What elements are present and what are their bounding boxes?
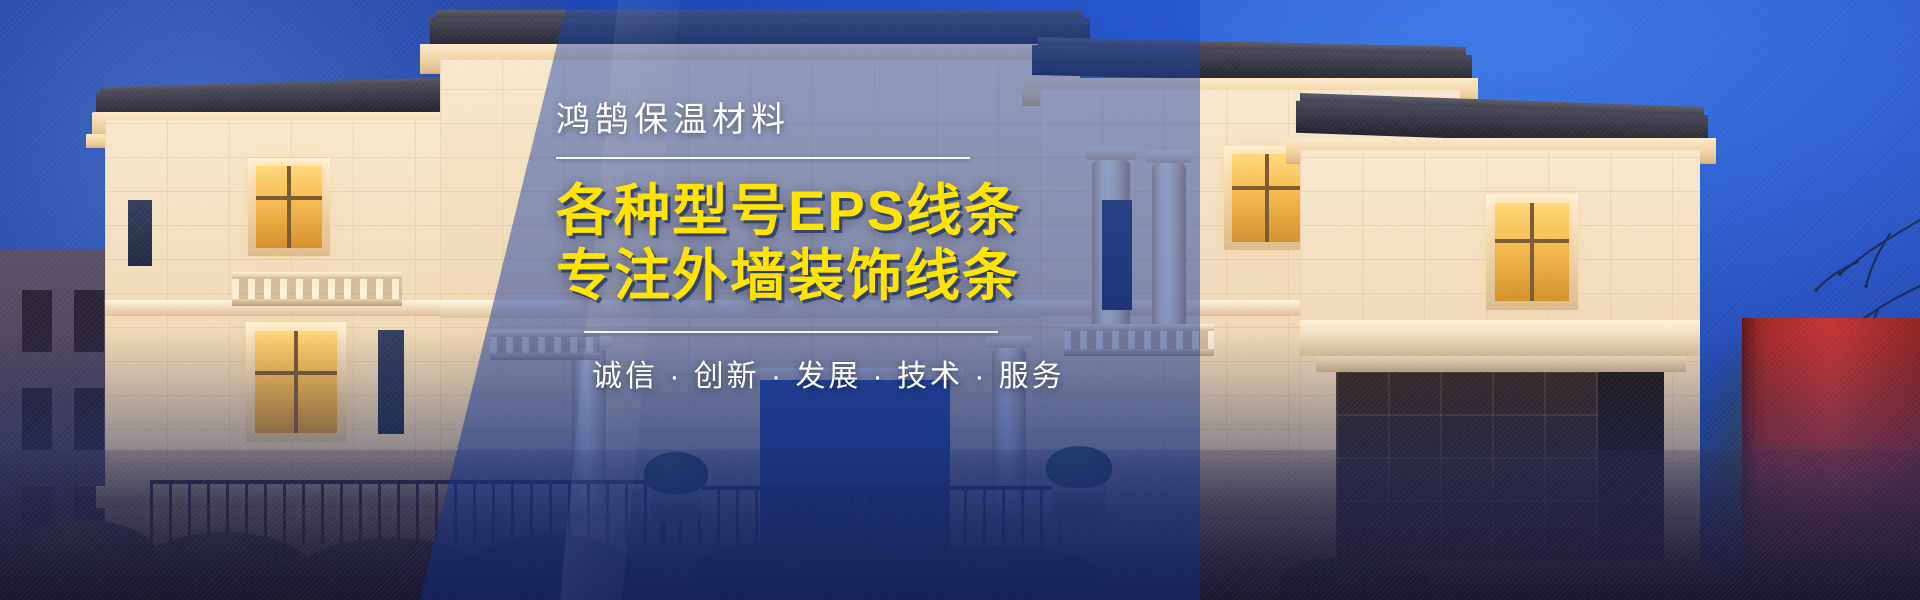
headline-line-2: 专注外墙装饰线条 xyxy=(556,244,1196,309)
lit-window xyxy=(256,166,322,248)
tagline: 诚信 · 创新 · 发展 · 技术 · 服务 xyxy=(592,351,1196,395)
headline: 各种型号EPS线条 专注外墙装饰线条 xyxy=(556,179,1196,309)
lit-window xyxy=(1495,203,1569,301)
brand-name: 鸿鹄保温材料 xyxy=(556,100,1196,141)
divider-bottom xyxy=(584,331,998,333)
banner-text-block: 鸿鹄保温材料 各种型号EPS线条 专注外墙装饰线条 诚信 · 创新 · 发展 ·… xyxy=(556,100,1196,395)
headline-line-1: 各种型号EPS线条 xyxy=(556,179,1196,244)
balustrade xyxy=(232,272,402,306)
promo-banner: 鸿鹄保温材料 各种型号EPS线条 专注外墙装饰线条 诚信 · 创新 · 发展 ·… xyxy=(0,0,1920,600)
lit-window xyxy=(1232,154,1302,242)
dark-window xyxy=(128,200,152,266)
divider-top xyxy=(556,157,970,159)
